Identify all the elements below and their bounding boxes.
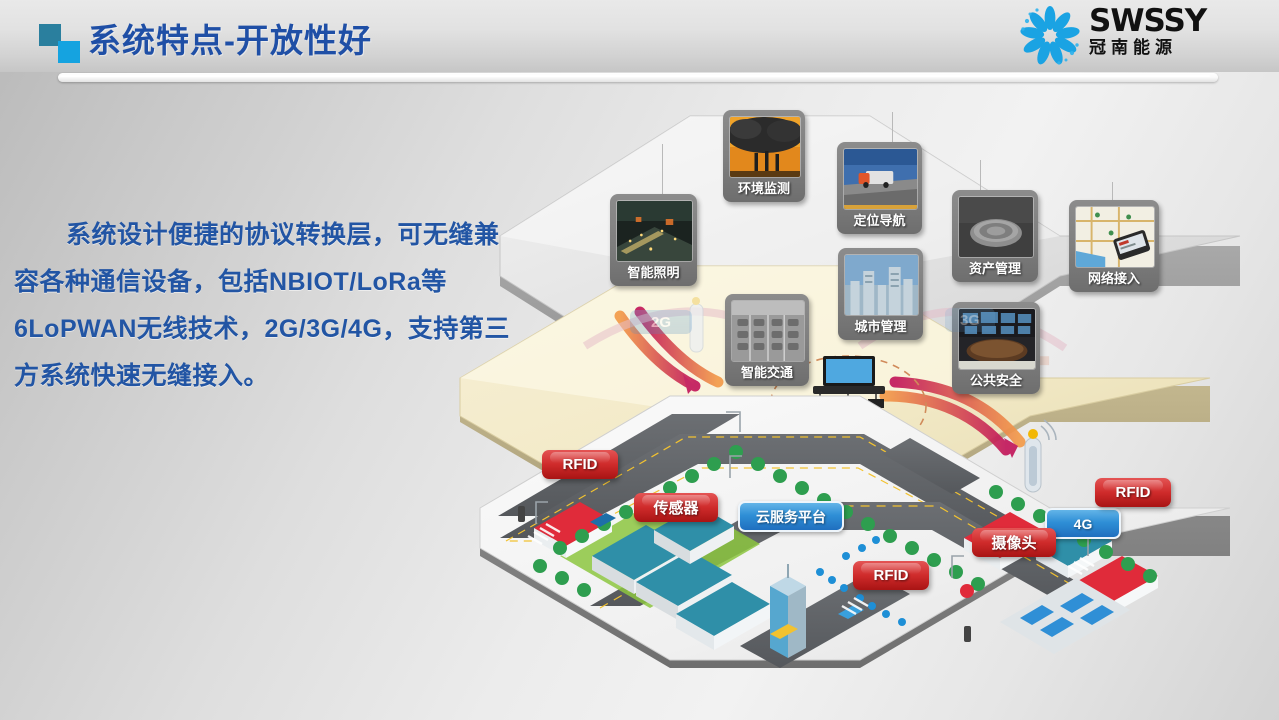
slide-root: 系统特点-开放性好 [0,0,1279,720]
app-card-label: 网络接入 [1075,268,1153,290]
night-city-road-photo [616,200,693,262]
app-card-city-management[interactable]: 城市管理 [838,248,923,340]
app-card-label: 智能交通 [731,362,803,384]
app-card-label: 城市管理 [844,316,917,338]
app-card-label: 公共安全 [958,370,1034,392]
cloud-platform-pill[interactable]: 云服务平台 [738,501,844,532]
page-title: 系统特点-开放性好 [88,14,372,62]
camera-badge[interactable]: 摄像头 [972,528,1056,557]
app-card-label: 环境监测 [729,178,799,200]
smokestack-pollution-photo [729,116,801,178]
rfid-badge-bottom[interactable]: RFID [853,561,929,590]
app-card-environment-monitoring[interactable]: 环境监测 [723,110,805,202]
slide-header: 系统特点-开放性好 [0,0,1279,86]
card-leader-line [662,144,663,194]
logo-text-block: SWSSY 冠南能源 [1089,5,1206,59]
water-droplet-flower-icon [1017,5,1083,67]
body-paragraph: 系统设计便捷的协议转换层，可无缝兼容各种通信设备，包括NBIOT/LoRa等6L… [14,212,514,400]
network-2g-label: 2G [630,310,692,334]
app-card-smart-lighting[interactable]: 智能照明 [610,194,697,286]
app-card-label: 定位导航 [843,210,916,232]
app-card-network-access[interactable]: 网络接入 [1069,200,1159,292]
app-card-smart-traffic[interactable]: 智能交通 [725,294,809,386]
truck-highway-photo [843,148,918,210]
logo-subtitle: 冠南能源 [1089,37,1206,59]
city-skyline-photo [844,254,919,316]
company-logo: SWSSY 冠南能源 [1017,3,1267,69]
iot-architecture-diagram: 丰达智工 FUNDA TECHNO 摄像头 传感器 摄像头 [440,86,1279,696]
app-card-positioning-navigation[interactable]: 定位导航 [837,142,922,234]
rfid-badge-left[interactable]: RFID [542,450,618,479]
square-light-icon [58,41,80,63]
network-3g-label: 3G [945,308,995,332]
cell-tower-antenna-icon [1025,420,1056,492]
app-card-asset-management[interactable]: 资产管理 [952,190,1038,282]
header-divider [58,73,1218,82]
logo-wordmark: SWSSY [1089,5,1206,37]
app-card-label: 智能照明 [616,262,691,284]
app-card-label: 资产管理 [958,258,1032,280]
manhole-cover-photo [958,196,1034,258]
network-4g-pill[interactable]: 4G [1045,508,1121,539]
rfid-badge-right-top[interactable]: RFID [1095,478,1171,507]
sensor-badge[interactable]: 传感器 [634,493,718,522]
map-pda-device-photo [1075,206,1155,268]
traffic-jam-photo [731,300,805,362]
